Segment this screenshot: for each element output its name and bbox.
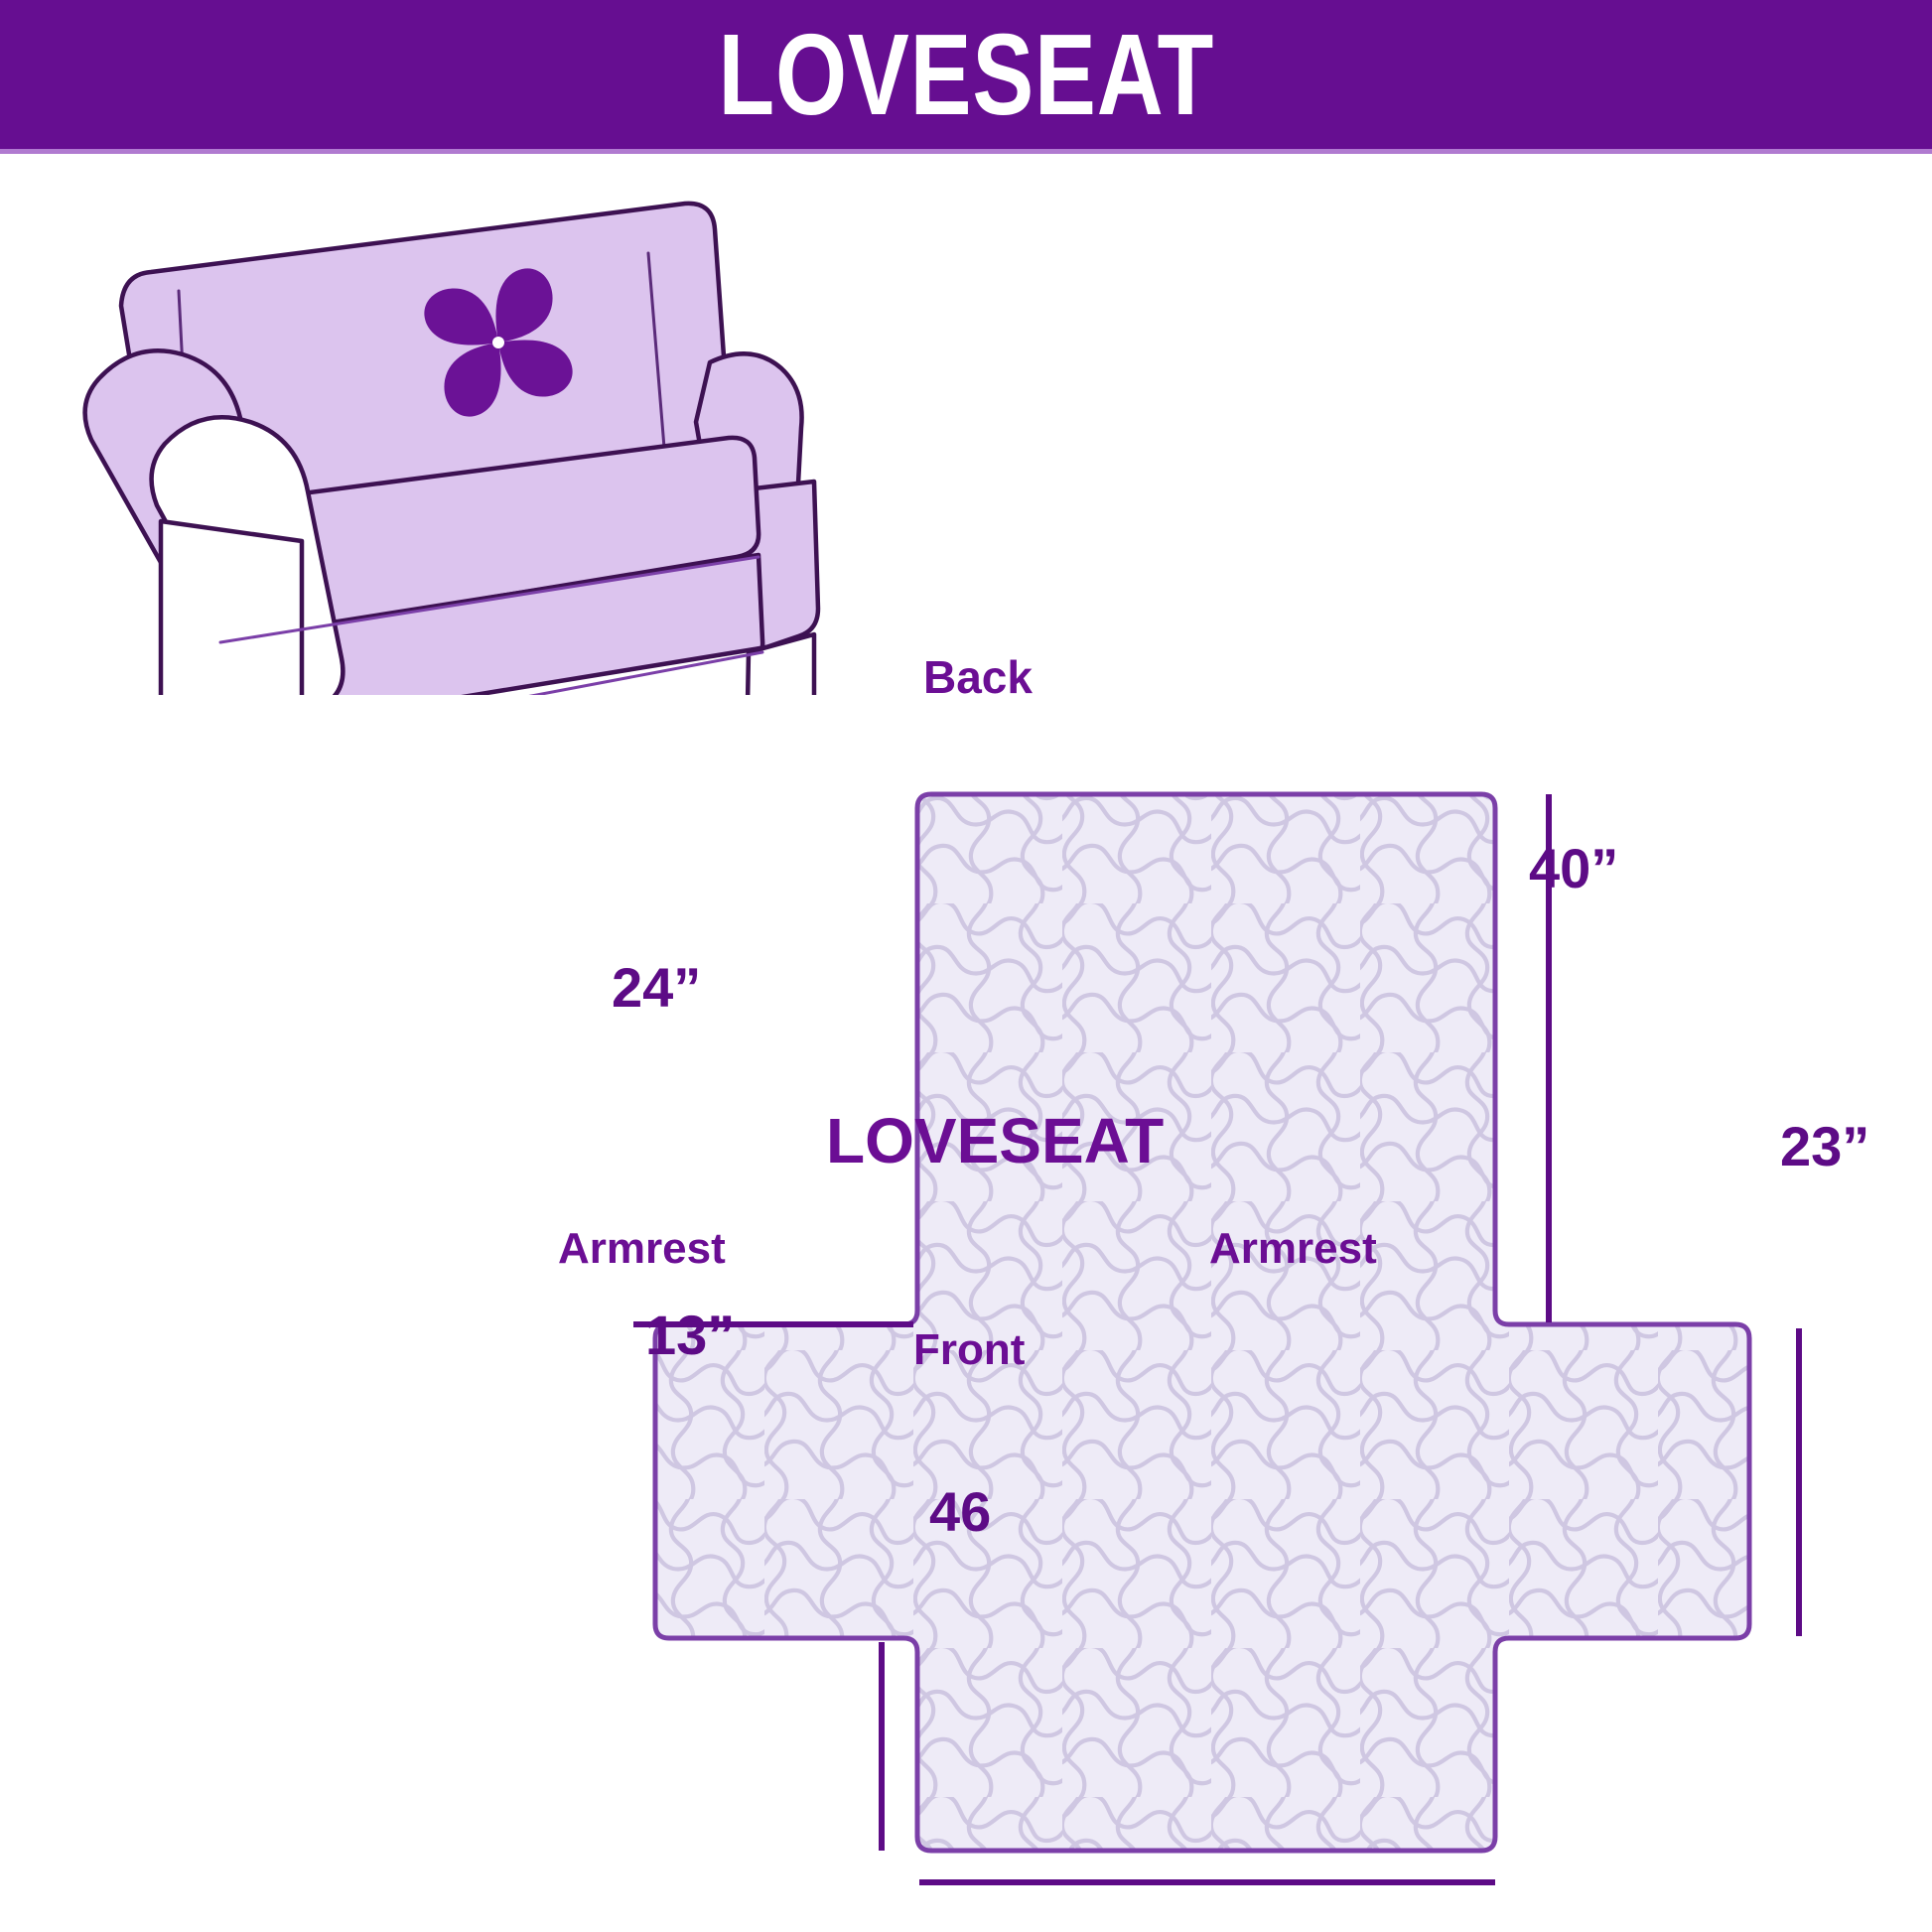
pattern-center-label: LOVESEAT — [826, 1104, 1164, 1177]
dimension-label-front-height: 13” — [645, 1303, 735, 1367]
panel-label-armrest-right: Armrest — [1209, 1224, 1377, 1274]
page-header: LOVESEAT — [0, 0, 1932, 149]
panel-label-armrest-left: Armrest — [558, 1224, 726, 1274]
panel-label-front: Front — [913, 1325, 1025, 1375]
dimension-label-front-width: 46 — [929, 1479, 991, 1544]
dimension-label-back-height: 40” — [1529, 836, 1618, 900]
dimension-label-back-offset: 24” — [612, 955, 701, 1020]
page-title: LOVESEAT — [718, 17, 1214, 132]
sofa-body — [85, 204, 818, 695]
panel-label-back: Back — [923, 650, 1033, 704]
dimension-label-armrest-height: 23” — [1780, 1114, 1869, 1178]
pinwheel-hub — [492, 337, 504, 348]
product-size-diagram-page: LOVESEAT — [0, 0, 1932, 1932]
header-underline — [0, 149, 1932, 154]
slipcover-pattern-diagram — [616, 755, 1932, 1932]
sofa-left-front-panel — [161, 521, 302, 695]
loveseat-illustration — [69, 194, 894, 695]
